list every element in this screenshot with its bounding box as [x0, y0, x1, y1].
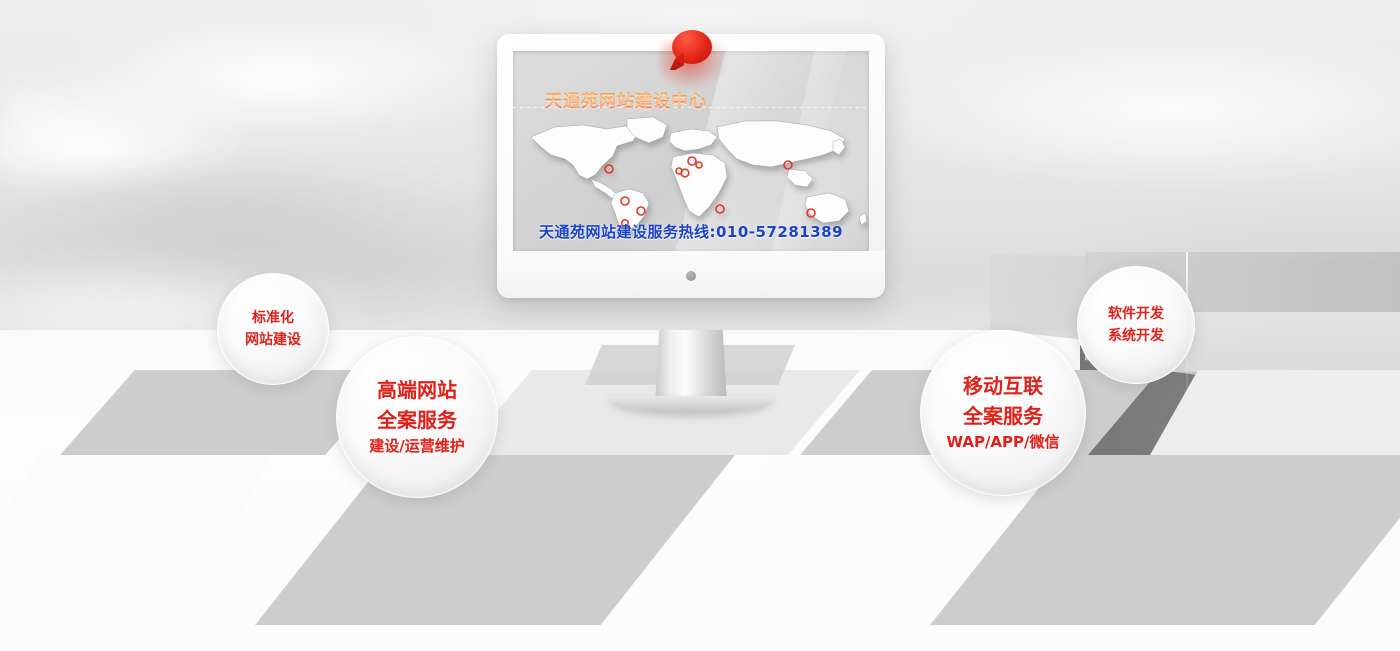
feature-bubble-standard-website[interactable]: 标准化 网站建设	[217, 273, 329, 385]
bubble-line-2: 网站建设	[245, 330, 301, 350]
hero-banner: 天通苑网站建设中心	[0, 0, 1400, 651]
bubble-line-2: 系统开发	[1108, 326, 1164, 346]
bubble-line-1: 移动互联	[963, 372, 1043, 401]
hotline-text: 天通苑网站建设服务热线:010-57281389	[513, 221, 869, 242]
feature-bubble-premium-website[interactable]: 高端网站 全案服务 建设/运营维护	[336, 336, 498, 498]
feature-bubble-mobile-internet[interactable]: 移动互联 全案服务 WAP/APP/微信	[920, 330, 1086, 496]
bubble-line-2: 全案服务	[377, 406, 457, 435]
monitor-logo-dot	[686, 271, 696, 281]
world-map-icon	[521, 113, 869, 233]
bubble-line-3: 建设/运营维护	[369, 436, 464, 458]
bubble-line-1: 高端网站	[377, 376, 457, 405]
bubble-line-1: 标准化	[252, 308, 294, 328]
monitor-stand-neck	[655, 330, 727, 404]
feature-bubble-software-development[interactable]: 软件开发 系统开发	[1077, 266, 1195, 384]
bubble-line-2: 全案服务	[963, 402, 1043, 431]
bubble-line-3: WAP/APP/微信	[946, 432, 1059, 454]
map-pin-icon	[668, 30, 714, 70]
bubble-line-1: 软件开发	[1108, 304, 1164, 324]
